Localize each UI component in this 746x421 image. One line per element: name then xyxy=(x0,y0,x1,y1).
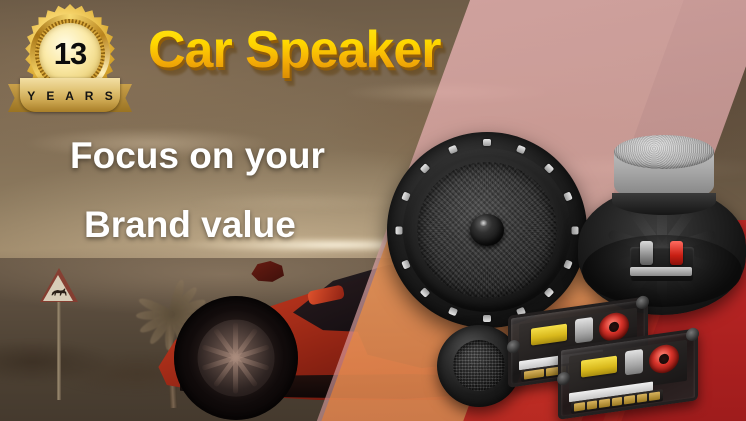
woofer-mounting-rivet xyxy=(544,287,555,298)
toroidal-inductor xyxy=(649,343,679,375)
woofer-rear-view xyxy=(578,135,746,315)
terminal-screw xyxy=(574,402,585,411)
terminal-screw xyxy=(649,391,660,400)
grey-capacitor xyxy=(625,349,643,376)
car-wheel-rim xyxy=(198,320,275,397)
banner-headline: Car Speaker xyxy=(148,20,441,80)
badge-ribbon: Y E A R S xyxy=(8,78,132,118)
woofer-mounting-rivet xyxy=(448,307,458,317)
woofer-mounting-rivet xyxy=(483,139,491,146)
sign-post xyxy=(57,288,61,400)
terminal-screw xyxy=(599,399,610,408)
crossover-mount-tab xyxy=(686,327,699,342)
terminal-bridge-bar xyxy=(630,267,692,276)
woofer-mounting-rivet xyxy=(483,315,491,322)
terminal-screw xyxy=(624,395,635,404)
grey-capacitor xyxy=(575,317,593,344)
magnet-top-face xyxy=(614,135,714,169)
terminal-screw xyxy=(612,397,623,406)
banner-subheadline-line1: Focus on your xyxy=(70,135,325,177)
promo-banner: 13 Y E A R S Car Speaker Focus on your B… xyxy=(0,0,746,421)
car-front-wheel xyxy=(174,296,298,420)
woofer-magnet xyxy=(614,135,714,209)
car-side-mirror xyxy=(250,260,284,286)
woofer-mounting-rivet xyxy=(564,259,574,269)
sign-triangle-face-icon xyxy=(43,275,73,301)
woofer-mounting-rivet xyxy=(396,227,403,235)
terminal-positive xyxy=(670,241,683,265)
yellow-capacitor xyxy=(531,324,567,346)
terminal-negative xyxy=(640,241,653,265)
woofer-front-view xyxy=(387,132,587,328)
crossover-mount-tab xyxy=(636,295,649,310)
tweeter-mesh-dome xyxy=(453,340,505,391)
woofer-dust-cap xyxy=(470,214,504,246)
terminal-screw xyxy=(524,369,544,380)
badge-years-number: 13 xyxy=(39,23,101,85)
anniversary-badge: 13 Y E A R S xyxy=(6,2,134,120)
terminal-screw xyxy=(637,393,648,402)
badge-years-label: Y E A R S xyxy=(23,89,117,103)
ribbon-body: Y E A R S xyxy=(20,78,120,112)
yellow-capacitor xyxy=(581,356,617,378)
banner-subheadline-line2: Brand value xyxy=(84,204,296,246)
terminal-screw xyxy=(587,400,598,409)
